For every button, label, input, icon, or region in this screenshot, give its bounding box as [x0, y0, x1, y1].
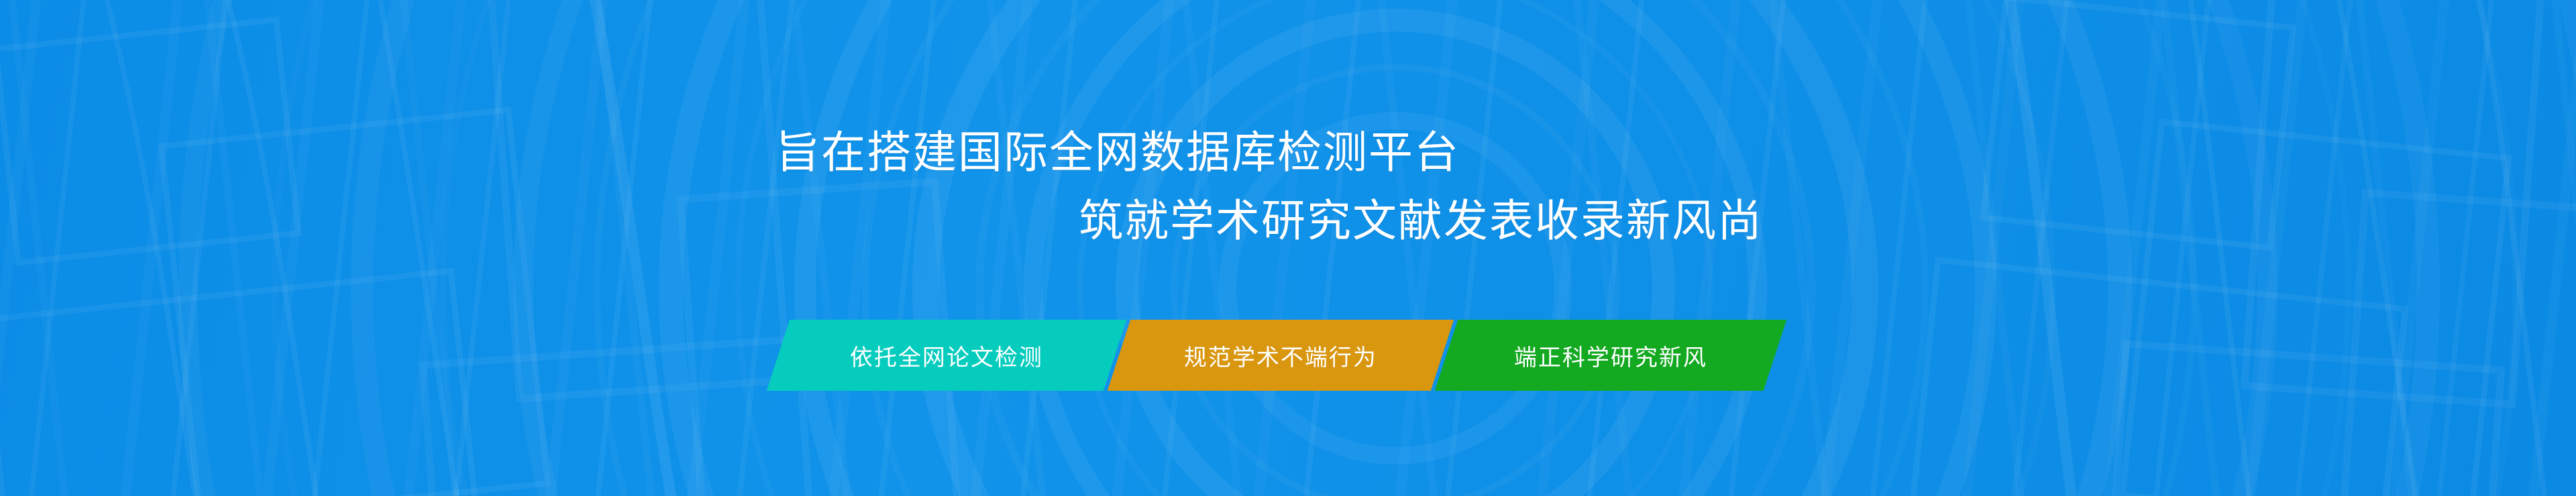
- ribbon-segment-label-3: 端正科学研究新风: [1514, 339, 1707, 372]
- ribbon-segment-research-ethos[interactable]: 端正科学研究新风: [1435, 320, 1786, 391]
- promo-banner: 旨在搭建国际全网数据库检测平台 筑就学术研究文献发表收录新风尚 依托全网论文检测…: [0, 0, 2576, 496]
- ribbon-segment-label-1: 依托全网论文检测: [850, 339, 1043, 372]
- headline-block: 旨在搭建国际全网数据库检测平台 筑就学术研究文献发表收录新风尚: [0, 118, 2576, 255]
- headline-line-2: 筑就学术研究文献发表收录新风尚: [0, 186, 2576, 255]
- ribbon-segment-label-2: 规范学术不端行为: [1184, 339, 1377, 372]
- ribbon-segment-paper-detection[interactable]: 依托全网论文检测: [767, 320, 1126, 391]
- feature-ribbon: 依托全网论文检测 规范学术不端行为 端正科学研究新风: [778, 320, 1775, 391]
- headline-line-1: 旨在搭建国际全网数据库检测平台: [0, 118, 2576, 186]
- ribbon-segment-academic-misconduct[interactable]: 规范学术不端行为: [1108, 320, 1454, 391]
